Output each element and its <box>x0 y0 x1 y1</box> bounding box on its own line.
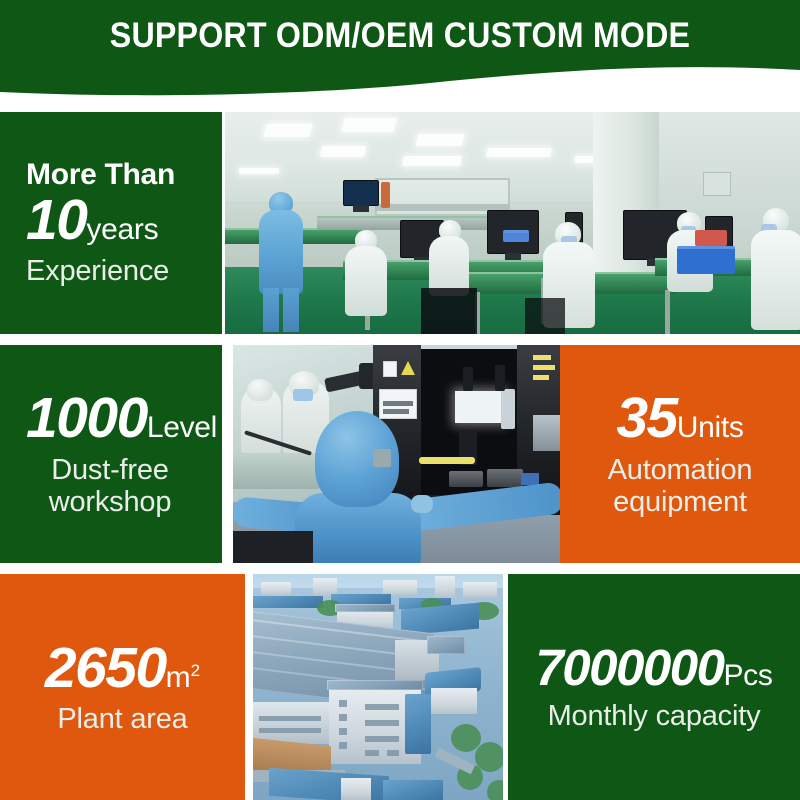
stat-caption-plant-area: Plant area <box>10 703 235 735</box>
stat-value-row-dust-free: 1000Level <box>26 389 212 447</box>
stats-row-2: 1000Level Dust-free workshop <box>0 345 800 563</box>
stat-value-dust-free: 1000 <box>26 386 147 450</box>
stat-unit-base: m <box>166 661 191 694</box>
photo-inspection-equipment <box>233 345 560 563</box>
stat-unit-plant-area: m2 <box>166 661 200 694</box>
stats-row-1: More Than 10years Experience <box>0 112 800 334</box>
stat-prefix-experience: More Than <box>26 159 212 191</box>
stat-caption-experience: Experience <box>26 255 212 287</box>
stat-caption-monthly-capacity: Monthly capacity <box>518 700 790 732</box>
stat-unit-dust-free: Level <box>147 411 217 444</box>
stat-value-row-experience: 10years <box>26 191 212 249</box>
stat-content-dust-free: 1000Level Dust-free workshop <box>0 389 222 518</box>
header-banner: SUPPORT ODM/OEM CUSTOM MODE <box>0 0 800 100</box>
stat-unit-superscript: 2 <box>191 661 200 680</box>
page-title: SUPPORT ODM/OEM CUSTOM MODE <box>32 14 768 58</box>
photo-cleanroom-production-line <box>225 112 800 334</box>
stat-caption-line-1: Dust-free <box>26 454 194 486</box>
stat-caption-dust-free: Dust-free workshop <box>26 454 212 519</box>
stat-card-dust-free-workshop: 1000Level Dust-free workshop <box>0 345 222 563</box>
cleanroom-scene <box>225 112 800 334</box>
stat-value-row-monthly-capacity: 7000000Pcs <box>518 642 790 694</box>
stat-card-automation-equipment: 35Units Automation equipment <box>560 345 800 563</box>
stat-caption-line-1: Automation <box>570 454 790 486</box>
stat-unit-experience: years <box>86 213 158 246</box>
infographic-page: SUPPORT ODM/OEM CUSTOM MODE More Than 10… <box>0 0 800 800</box>
stats-row-3: 2650m2 Plant area <box>0 574 800 800</box>
stat-value-plant-area: 2650 <box>45 636 166 700</box>
aerial-factory-scene <box>253 574 503 800</box>
stat-caption-automation: Automation equipment <box>570 454 790 519</box>
stat-value-automation: 35 <box>616 386 676 450</box>
stat-value-row-automation: 35Units <box>570 389 790 447</box>
stat-caption-line-2: equipment <box>570 486 790 518</box>
stat-content-plant-area: 2650m2 Plant area <box>0 639 245 736</box>
stat-caption-line-2: workshop <box>26 486 194 518</box>
stat-content-automation: 35Units Automation equipment <box>560 389 800 518</box>
stat-card-experience: More Than 10years Experience <box>0 112 222 334</box>
stat-content-monthly-capacity: 7000000Pcs Monthly capacity <box>508 642 800 732</box>
stat-value-row-plant-area: 2650m2 <box>10 639 235 697</box>
photo-aerial-factory <box>253 574 503 800</box>
inspection-scene <box>233 345 560 563</box>
stat-value-experience: 10 <box>26 188 86 252</box>
stat-card-plant-area: 2650m2 Plant area <box>0 574 245 800</box>
stat-content-experience: More Than 10years Experience <box>0 159 222 288</box>
stat-unit-automation: Units <box>677 411 744 444</box>
stat-card-monthly-capacity: 7000000Pcs Monthly capacity <box>508 574 800 800</box>
stat-unit-monthly-capacity: Pcs <box>723 659 772 692</box>
stat-value-monthly-capacity: 7000000 <box>535 639 723 696</box>
